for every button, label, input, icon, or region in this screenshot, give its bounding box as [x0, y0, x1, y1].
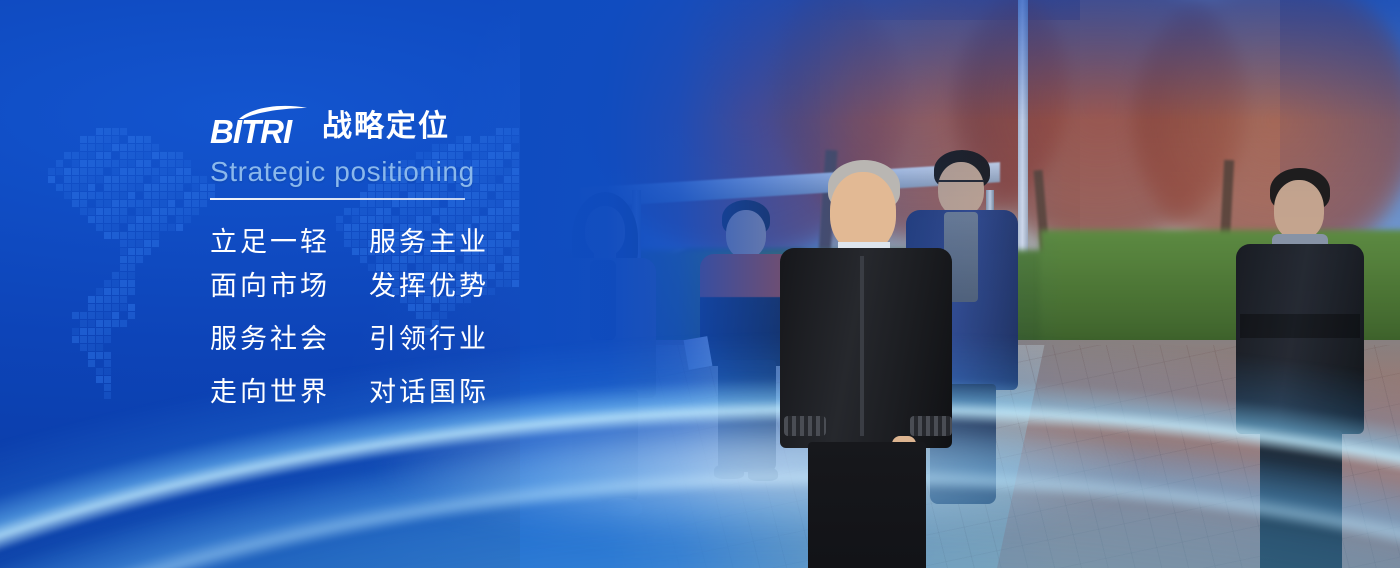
- slogan-line: 走向世界对话国际: [210, 370, 730, 414]
- slogan-left: 立足一轻: [210, 220, 335, 264]
- slogan-line: 服务社会引领行业: [210, 317, 730, 361]
- slogan-list: 立足一轻服务主业面向市场发挥优势服务社会引领行业走向世界对话国际: [210, 220, 730, 414]
- slogan-left: 服务社会: [210, 317, 335, 361]
- person-leader-black-jacket: [772, 160, 962, 568]
- slogan-left: 面向市场: [210, 264, 335, 308]
- head: [830, 172, 896, 252]
- slogan-right: 发挥优势: [369, 264, 494, 308]
- bitri-wordmark: BITRI: [210, 115, 291, 149]
- title-row: BITRI 战略定位: [210, 104, 730, 150]
- cuff: [784, 416, 826, 436]
- slogan-line: 面向市场发挥优势: [210, 264, 730, 308]
- slogan-line: 立足一轻服务主业: [210, 220, 730, 264]
- slogan-right: 对话国际: [369, 370, 494, 414]
- title-divider: [210, 198, 465, 200]
- page-title-en: Strategic positioning: [210, 154, 730, 190]
- page-title-cn: 战略定位: [322, 110, 450, 144]
- bitri-logo: BITRI: [210, 105, 308, 149]
- banner-content: BITRI 战略定位 Strategic positioning 立足一轻服务主…: [210, 104, 730, 414]
- slogan-left: 走向世界: [210, 370, 335, 414]
- jacket-zipper: [860, 256, 864, 436]
- trousers: [808, 442, 926, 568]
- slogan-right: 服务主业: [369, 220, 494, 264]
- cuff: [910, 416, 952, 436]
- strategic-positioning-banner: BITRI 战略定位 Strategic positioning 立足一轻服务主…: [0, 0, 1400, 568]
- slogan-right: 引领行业: [369, 317, 494, 361]
